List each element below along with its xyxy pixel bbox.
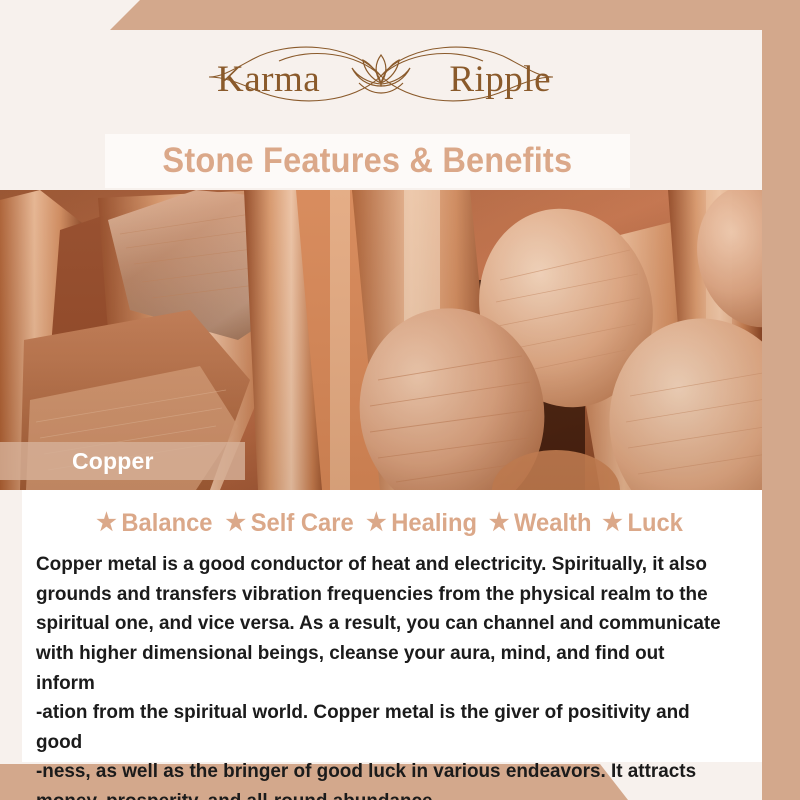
benefit-label: Balance xyxy=(122,509,213,538)
description-block: Copper metal is a good conductor of heat… xyxy=(36,550,727,800)
section-title-banner: Stone Features & Benefits xyxy=(105,134,630,188)
benefit-label: Self Care xyxy=(251,509,354,538)
star-icon: ★ xyxy=(488,511,508,535)
photo-caption-banner: Copper xyxy=(0,442,245,480)
star-icon: ★ xyxy=(225,511,245,535)
page-title: Stone Features & Benefits xyxy=(163,141,573,181)
benefit-item-balance: ★ Balance xyxy=(97,509,219,538)
benefits-list: ★ Balance ★ Self Care ★ Healing ★ Wealth… xyxy=(22,490,762,546)
brand-name-left: Karma xyxy=(217,58,320,101)
brand-logo: Karma Ripple xyxy=(191,33,571,119)
benefit-item-healing: ★ Healing xyxy=(366,509,483,538)
benefit-item-luck: ★ Luck xyxy=(602,509,688,538)
copper-photo: Copper xyxy=(0,190,762,490)
lotus-icon xyxy=(352,55,410,93)
benefit-label: Healing xyxy=(391,509,477,538)
benefit-label: Luck xyxy=(627,509,682,538)
star-icon: ★ xyxy=(97,511,117,535)
infographic-page: Karma Ripple Stone Features & Benefits xyxy=(0,0,800,800)
description-text: Copper metal is a good conductor of heat… xyxy=(36,550,727,800)
brand-header: Karma Ripple xyxy=(0,22,762,130)
benefit-item-wealth: ★ Wealth xyxy=(488,509,596,538)
star-icon: ★ xyxy=(366,511,386,535)
content-panel: ★ Balance ★ Self Care ★ Healing ★ Wealth… xyxy=(22,490,762,762)
stone-name: Copper xyxy=(72,448,154,475)
benefit-label: Wealth xyxy=(514,509,591,538)
star-icon: ★ xyxy=(602,511,622,535)
benefit-item-self-care: ★ Self Care xyxy=(225,509,359,538)
brand-name-right: Ripple xyxy=(449,58,551,101)
right-accent-band xyxy=(762,0,800,800)
